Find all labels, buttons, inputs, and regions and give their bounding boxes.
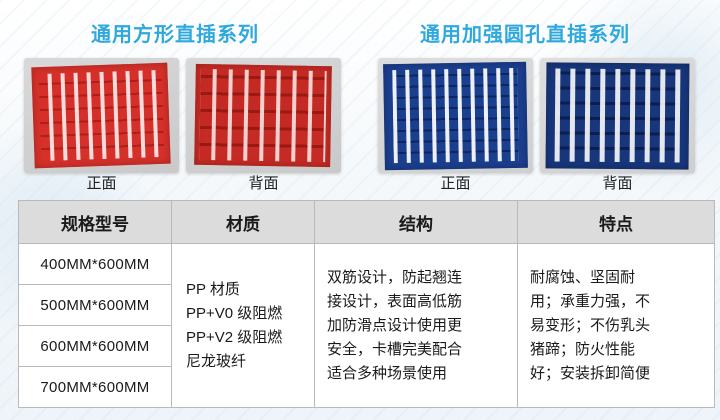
cell-model-3: 600MM*600MM [19, 326, 172, 367]
material-line-3: PP+V2 级阻燃 [178, 326, 308, 350]
cell-material: PP 材质 PP+V0 级阻燃 PP+V2 级阻燃 尼龙玻纤 [172, 244, 315, 408]
caption-row: 正面 背面 正面 背面 [0, 172, 720, 194]
header-material: 材质 [172, 201, 315, 244]
cell-feature: 耐腐蚀、坚固耐 用；承重力强，不 易变形；不伤乳头 猪蹄；防火性能 好；安装拆卸… [518, 244, 715, 408]
structure-line-1: 双筋设计，防起翘连 [321, 266, 511, 290]
heading-square-series: 通用方形直插系列 [25, 18, 325, 47]
table-body: 400MM*600MM PP 材质 PP+V0 级阻燃 PP+V2 级阻燃 尼龙… [19, 244, 715, 408]
photo-square-slat-back [186, 58, 341, 173]
structure-line-2: 接设计，表面高低筋 [321, 290, 511, 314]
cell-model-1: 400MM*600MM [19, 244, 172, 285]
table-row: 400MM*600MM PP 材质 PP+V0 级阻燃 PP+V2 级阻燃 尼龙… [19, 244, 715, 285]
cell-model-2: 500MM*600MM [19, 285, 172, 326]
page-root: 通用方形直插系列 通用加强圆孔直插系列 正面 背面 正面 背面 规格型号 材质 … [0, 0, 720, 420]
spec-table: 规格型号 材质 结构 特点 400MM*600MM PP 材质 PP+V0 级阻… [18, 200, 715, 408]
feature-line-3: 易变形；不伤乳头 [524, 314, 708, 338]
headings-row: 通用方形直插系列 通用加强圆孔直插系列 [0, 18, 720, 47]
header-model: 规格型号 [19, 201, 172, 244]
caption-square-front: 正面 [24, 172, 179, 193]
material-line-1: PP 材质 [178, 278, 308, 302]
structure-line-5: 适合多种场景使用 [321, 362, 511, 386]
table-header: 规格型号 材质 结构 特点 [19, 201, 715, 244]
structure-line-3: 加防滑点设计使用更 [321, 314, 511, 338]
cell-structure: 双筋设计，防起翘连 接设计，表面高低筋 加防滑点设计使用更 安全，卡槽完美配合 … [315, 244, 518, 408]
heading-round-series: 通用加强圆孔直插系列 [355, 18, 695, 47]
caption-round-back: 背面 [540, 172, 695, 193]
feature-line-1: 耐腐蚀、坚固耐 [524, 266, 708, 290]
header-feature: 特点 [518, 201, 715, 244]
caption-round-front: 正面 [378, 172, 533, 193]
cell-model-4: 700MM*600MM [19, 367, 172, 408]
feature-line-4: 猪蹄；防火性能 [524, 338, 708, 362]
table-header-row: 规格型号 材质 结构 特点 [19, 201, 715, 244]
photo-square-slat-front [24, 58, 179, 173]
feature-line-5: 好；安装拆卸简便 [524, 362, 708, 386]
feature-line-2: 用；承重力强，不 [524, 290, 708, 314]
structure-line-4: 安全，卡槽完美配合 [321, 338, 511, 362]
photo-round-slat-back [540, 58, 695, 173]
caption-square-back: 背面 [186, 172, 341, 193]
material-line-4: 尼龙玻纤 [178, 350, 308, 374]
material-line-2: PP+V0 级阻燃 [178, 302, 308, 326]
photo-round-slat-front [378, 58, 533, 173]
header-structure: 结构 [315, 201, 518, 244]
